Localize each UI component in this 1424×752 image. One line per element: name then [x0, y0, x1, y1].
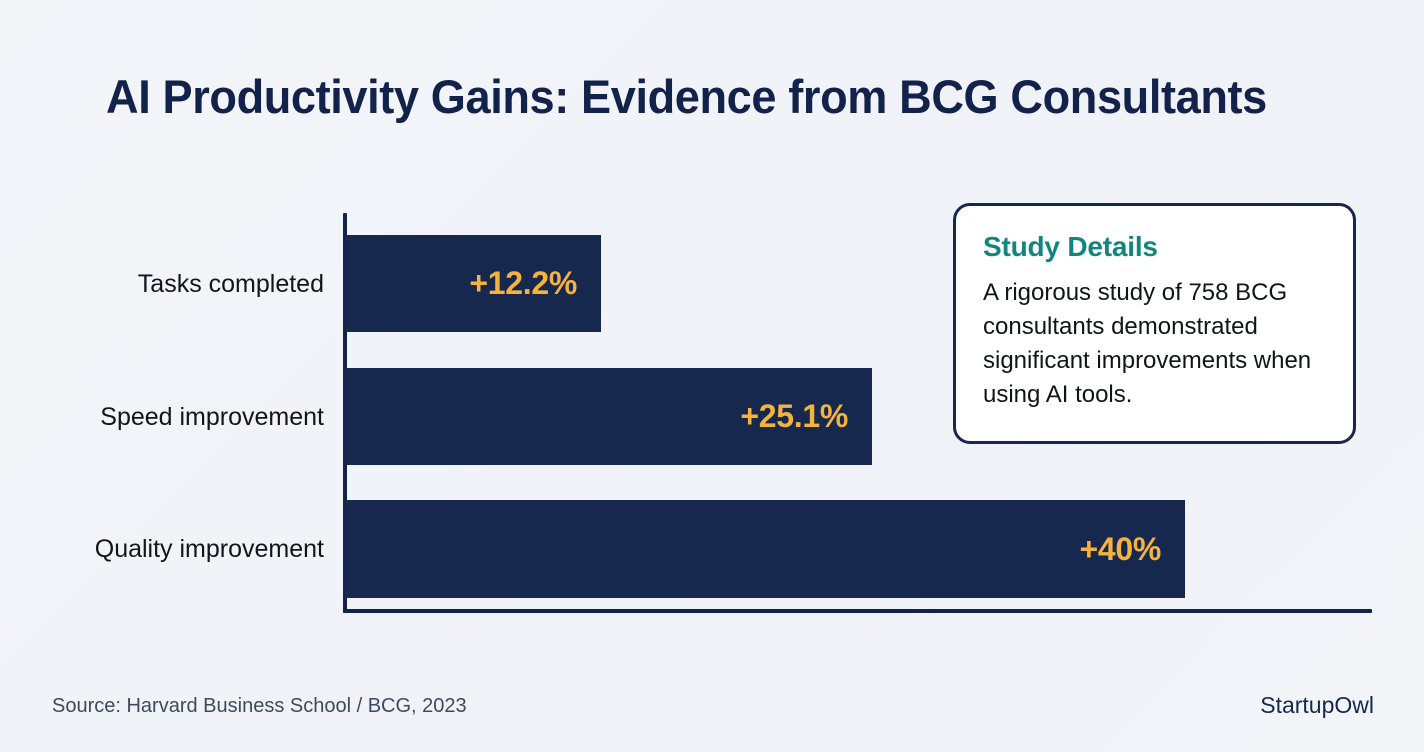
bar-category-label: Tasks completed — [4, 272, 324, 297]
bar-quality-improvement[interactable]: +40% — [345, 500, 1185, 598]
bar-value-label: +25.1% — [740, 398, 872, 435]
bar-category-label: Speed improvement — [4, 405, 324, 430]
bar-value-label: +12.2% — [469, 265, 601, 302]
callout-body-text: A rigorous study of 758 BCG consultants … — [983, 276, 1327, 412]
bar-speed-improvement[interactable]: +25.1% — [345, 368, 872, 465]
callout-heading: Study Details — [983, 230, 1327, 264]
source-note: Source: Harvard Business School / BCG, 2… — [52, 693, 467, 719]
bar-value-label: +40% — [1079, 531, 1185, 568]
x-axis-line — [343, 609, 1372, 613]
study-details-callout: Study Details A rigorous study of 758 BC… — [953, 203, 1356, 444]
bar-category-label: Quality improvement — [4, 537, 324, 562]
slide-canvas: AI Productivity Gains: Evidence from BCG… — [0, 0, 1424, 752]
bar-tasks-completed[interactable]: +12.2% — [345, 235, 601, 332]
brand-mark: StartupOwl — [1260, 691, 1374, 719]
